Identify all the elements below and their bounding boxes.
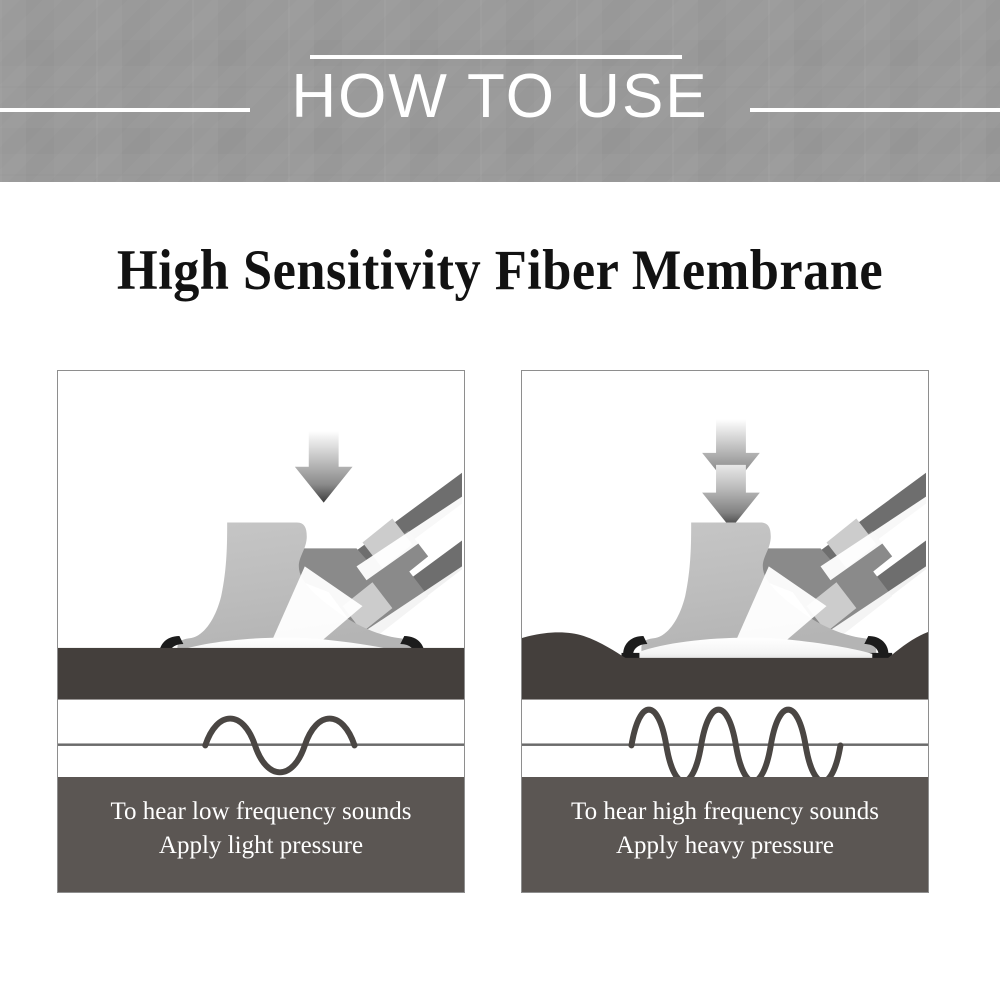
panel-low-frequency: To hear low frequency sounds Apply light… [57, 370, 465, 893]
page-title: High Sensitivity Fiber Membrane [40, 238, 960, 303]
header-banner: HOW TO USE [0, 0, 1000, 182]
caption-line-1: To hear high frequency sounds [522, 795, 928, 829]
skin-membrane-band [58, 648, 464, 700]
caption-high-frequency: To hear high frequency sounds Apply heav… [522, 777, 928, 892]
caption-line-2: Apply light pressure [58, 829, 464, 863]
banner-title: HOW TO USE [0, 60, 1000, 134]
caption-line-1: To hear low frequency sounds [58, 795, 464, 829]
infographic-page: HOW TO USE High Sensitivity Fiber Membra… [0, 0, 1000, 1000]
sound-layers [58, 700, 464, 778]
banner-rule-top [310, 55, 682, 59]
panel-high-frequency: To hear high frequency sounds Apply heav… [521, 370, 929, 893]
caption-line-2: Apply heavy pressure [522, 829, 928, 863]
caption-low-frequency: To hear low frequency sounds Apply light… [58, 777, 464, 892]
